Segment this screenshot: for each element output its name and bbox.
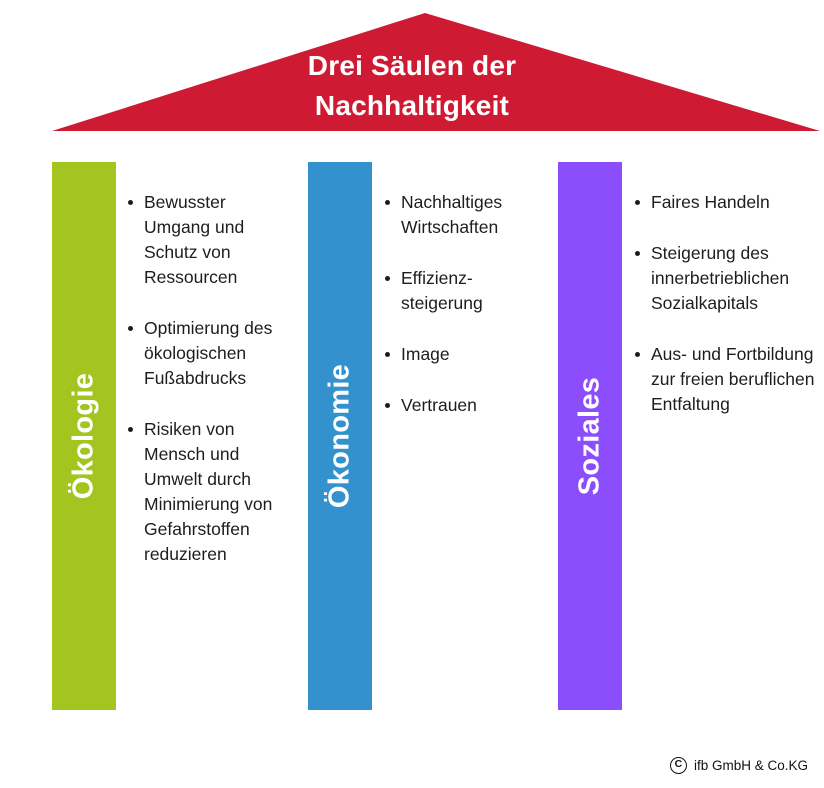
list-item: Effizienz-steigerung <box>385 266 543 316</box>
pillar-oekologie[interactable]: Ökologie <box>52 162 116 710</box>
list-item: Faires Handeln <box>635 190 815 215</box>
pillar-oekonomie[interactable]: Ökonomie <box>308 162 372 710</box>
copyright-text: ifb GmbH & Co.KG <box>694 758 808 773</box>
list-item: Image <box>385 342 543 367</box>
pillar-label-soziales: Soziales <box>574 377 607 495</box>
list-item: Nachhaltiges Wirtschaften <box>385 190 543 240</box>
roof-shape <box>0 0 824 140</box>
list-item: Steigerung des innerbetrieblichen Sozial… <box>635 241 815 316</box>
list-item: Aus- und Fortbildung zur freien beruflic… <box>635 342 815 417</box>
diagram-canvas: Drei Säulen der Nachhaltigkeit Ökologie … <box>0 0 824 788</box>
list-item: Bewusster Umgang und Schutz von Ressourc… <box>128 190 296 290</box>
pillar-label-oekonomie: Ökonomie <box>324 364 357 508</box>
pillar-label-oekologie: Ökologie <box>68 373 101 499</box>
copyright-footer: C ifb GmbH & Co.KG <box>670 757 808 774</box>
bullet-list-oekonomie: Nachhaltiges Wirtschaften Effizienz-stei… <box>385 190 543 444</box>
list-item: Optimierung des ökologischen Fußabdrucks <box>128 316 296 391</box>
list-item: Risiken von Mensch und Umwelt durch Mini… <box>128 417 296 567</box>
bullet-list-soziales: Faires Handeln Steigerung des innerbetri… <box>635 190 815 443</box>
list-item: Vertrauen <box>385 393 543 418</box>
bullet-list-oekologie: Bewusster Umgang und Schutz von Ressourc… <box>128 190 296 593</box>
copyright-icon: C <box>670 757 687 774</box>
pillar-soziales[interactable]: Soziales <box>558 162 622 710</box>
